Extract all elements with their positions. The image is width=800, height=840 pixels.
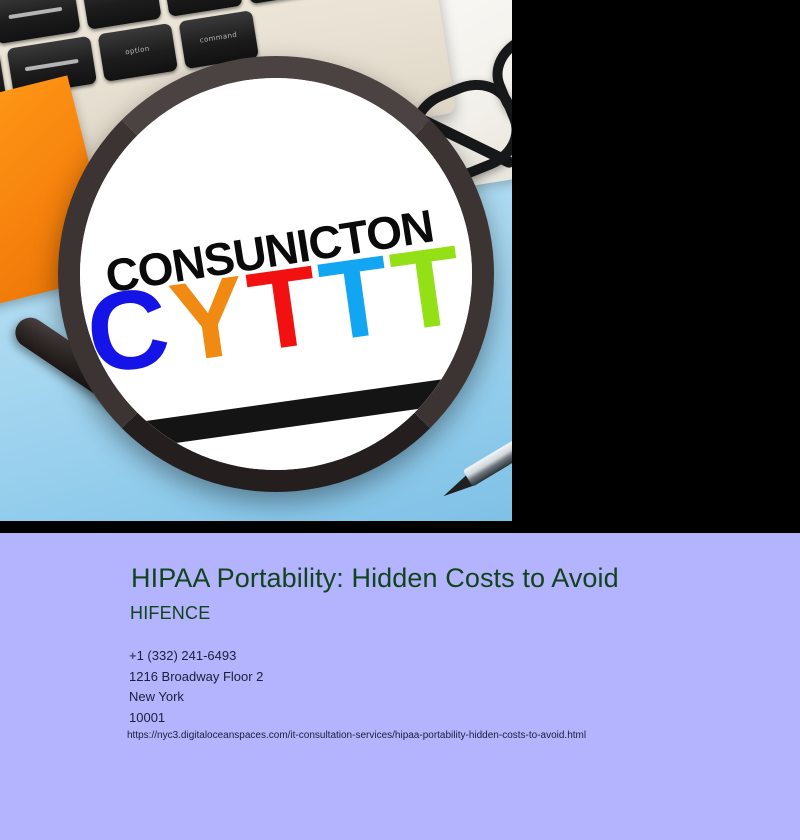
colored-letter-4: T [385,229,468,349]
colored-letter-3: T [314,239,397,359]
page-root: enter option command [0,0,800,840]
page-title: HIPAA Portability: Hidden Costs to Avoid [131,563,619,594]
brand-name: HIFENCE [130,603,210,624]
colored-letter-2: T [242,249,325,369]
content-area: HIPAA Portability: Hidden Costs to Avoid… [0,533,800,840]
keyboard-key [243,0,324,4]
contact-zip: 10001 [129,708,263,729]
colored-letter-0: C [80,270,176,392]
keyboard-key [0,0,81,44]
magnifying-glass: CONSUNICTON CYTTT [58,56,498,496]
contact-city: New York [129,687,263,708]
contact-street: 1216 Broadway Floor 2 [129,667,263,688]
colored-letter-1: Y [164,259,254,380]
contact-block: +1 (332) 241-6493 1216 Broadway Floor 2 … [129,646,263,728]
media-band: enter option command [0,0,800,533]
magnifier-lens-content: CONSUNICTON CYTTT [80,78,472,470]
magnifier-ring: CONSUNICTON CYTTT [58,56,494,492]
hero-image: enter option command [0,0,512,521]
page-url[interactable]: https://nyc3.digitaloceanspaces.com/it-c… [127,730,586,741]
contact-phone: +1 (332) 241-6493 [129,646,263,667]
